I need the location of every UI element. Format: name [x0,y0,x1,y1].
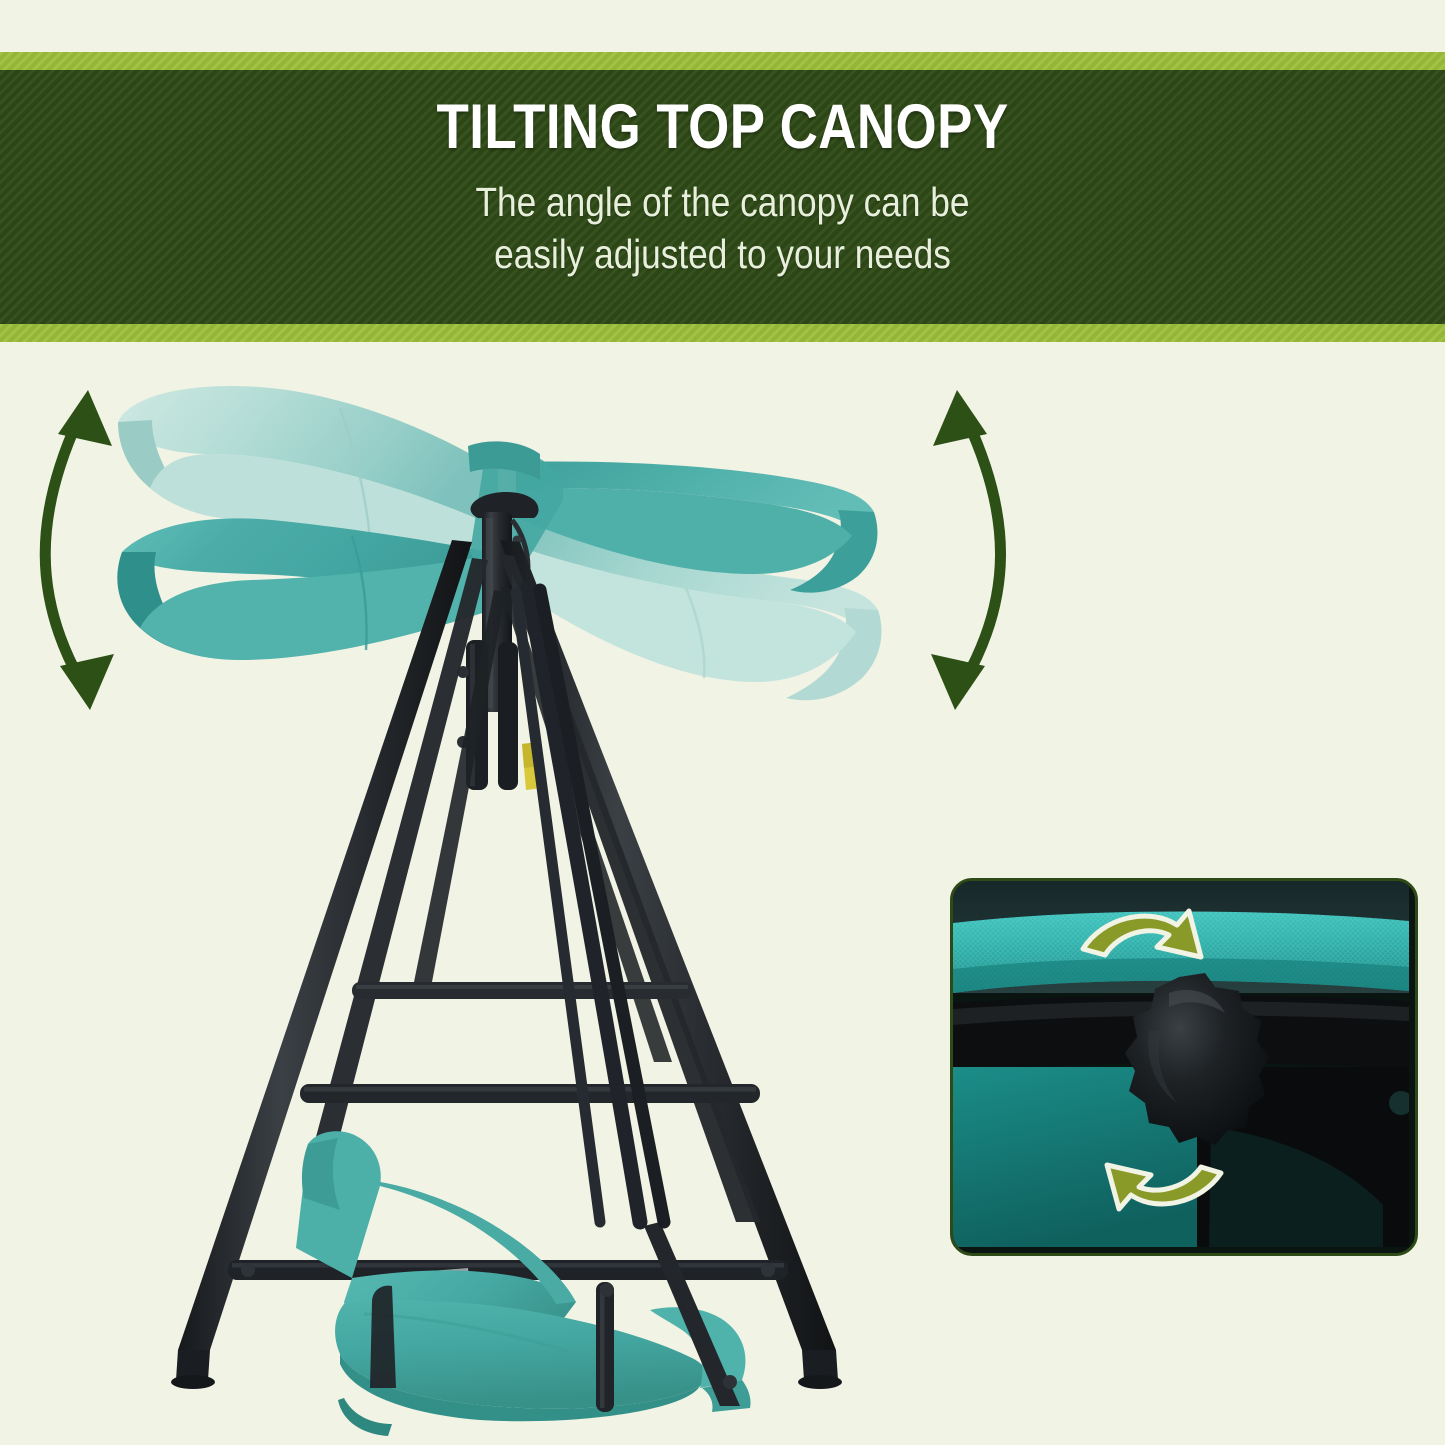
tilt-range-arrow-left [45,390,114,710]
page-title: TILTING TOP CANOPY [116,92,1330,162]
banner-top-accent-stripe [0,52,1445,70]
banner-subtitle: The angle of the canopy can be easily ad… [101,176,1344,280]
banner-text-block: TILTING TOP CANOPY The angle of the cano… [0,92,1445,280]
banner-bottom-accent-stripe [0,324,1445,342]
banner-subtitle-line-1: The angle of the canopy can be [475,179,969,225]
product-feature-image: TILTING TOP CANOPY The angle of the cano… [0,0,1445,1445]
canopy-adjustment-knob-closeup [950,878,1418,1256]
banner-top-stripe-texture [0,52,1445,70]
knob-closeup-illustration [953,881,1409,1247]
header-banner: TILTING TOP CANOPY The angle of the cano… [0,52,1445,342]
banner-bottom-stripe-texture [0,324,1445,342]
banner-subtitle-line-2: easily adjusted to your needs [494,231,951,277]
tilt-range-arrow-right [931,390,1001,710]
